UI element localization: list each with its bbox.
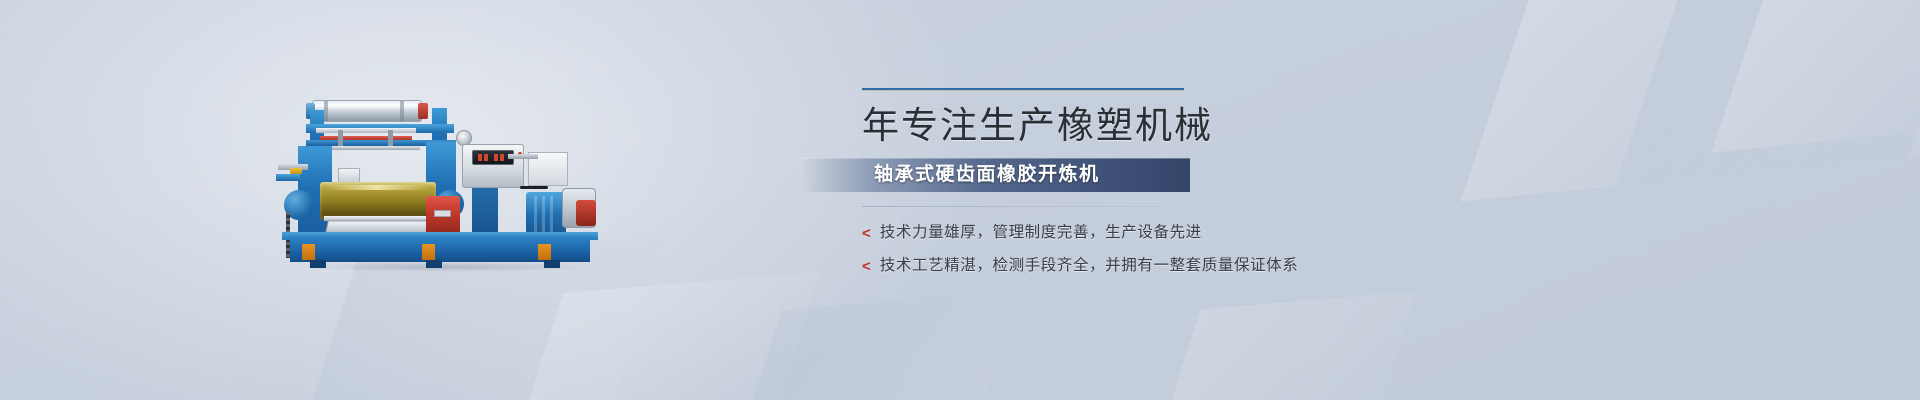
roller-band-left [324, 101, 328, 121]
decorative-shape-6 [731, 290, 1019, 400]
base-pad [538, 244, 551, 260]
top-steel-roller [312, 100, 422, 122]
hanger-left [338, 130, 343, 146]
gearbox-plate [434, 210, 451, 217]
adjust-knob [290, 168, 302, 174]
side-arm [276, 174, 300, 181]
roller-cap-right [418, 103, 428, 119]
machine-foot [310, 260, 326, 268]
motor-fin [550, 196, 553, 234]
motor-fin [534, 196, 537, 234]
guide-bar-upper [316, 128, 416, 133]
chevron-left-icon: < [862, 259, 871, 274]
feature-item-2: < 技术工艺精湛，检测手段齐全，并拥有一整套质量保证体系 [862, 256, 1890, 276]
subtitle-text: 轴承式硬齿面橡胶开炼机 [874, 158, 1100, 192]
chevron-left-icon: < [862, 226, 871, 241]
decorative-shape-5 [509, 271, 820, 400]
base-pad [302, 244, 315, 260]
display-digit [478, 154, 482, 161]
feature-text-2: 技术工艺精湛，检测手段齐全，并拥有一整套质量保证体系 [880, 256, 1299, 276]
subtitle-bar: 轴承式硬齿面橡胶开炼机 [800, 158, 1190, 192]
power-cable [520, 186, 548, 189]
display-digit [494, 154, 498, 161]
machine-foot [426, 260, 442, 268]
machine-foot [544, 260, 560, 268]
feature-list: < 技术力量雄厚，管理制度完善，生产设备先进 < 技术工艺精湛，检测手段齐全，并… [800, 223, 1890, 276]
display-digit [484, 154, 488, 161]
hanger-right [388, 130, 393, 146]
product-image-rubber-mixing-mill [276, 92, 624, 270]
headline-top-rule [862, 88, 1184, 91]
promo-banner: 年专注生产橡塑机械 轴承式硬齿面橡胶开炼机 < 技术力量雄厚，管理制度完善，生产… [0, 0, 1920, 400]
feature-item-1: < 技术力量雄厚，管理制度完善，生产设备先进 [862, 223, 1890, 243]
roller-band-right [400, 101, 404, 121]
decorative-shape-7 [1153, 291, 1417, 400]
headline: 年专注生产橡塑机械 [800, 105, 1890, 149]
motor-fin [542, 196, 545, 234]
display-digit [500, 154, 504, 161]
copy-divider [862, 206, 1262, 207]
base-pad [422, 244, 435, 260]
motor-terminal-box [576, 200, 596, 226]
conduit-pipe [508, 154, 538, 159]
feature-text-1: 技术力量雄厚，管理制度完善，生产设备先进 [880, 223, 1202, 243]
roller-highlight [324, 185, 430, 190]
banner-copy: 年专注生产橡塑机械 轴承式硬齿面橡胶开炼机 < 技术力量雄厚，管理制度完善，生产… [800, 88, 1890, 289]
